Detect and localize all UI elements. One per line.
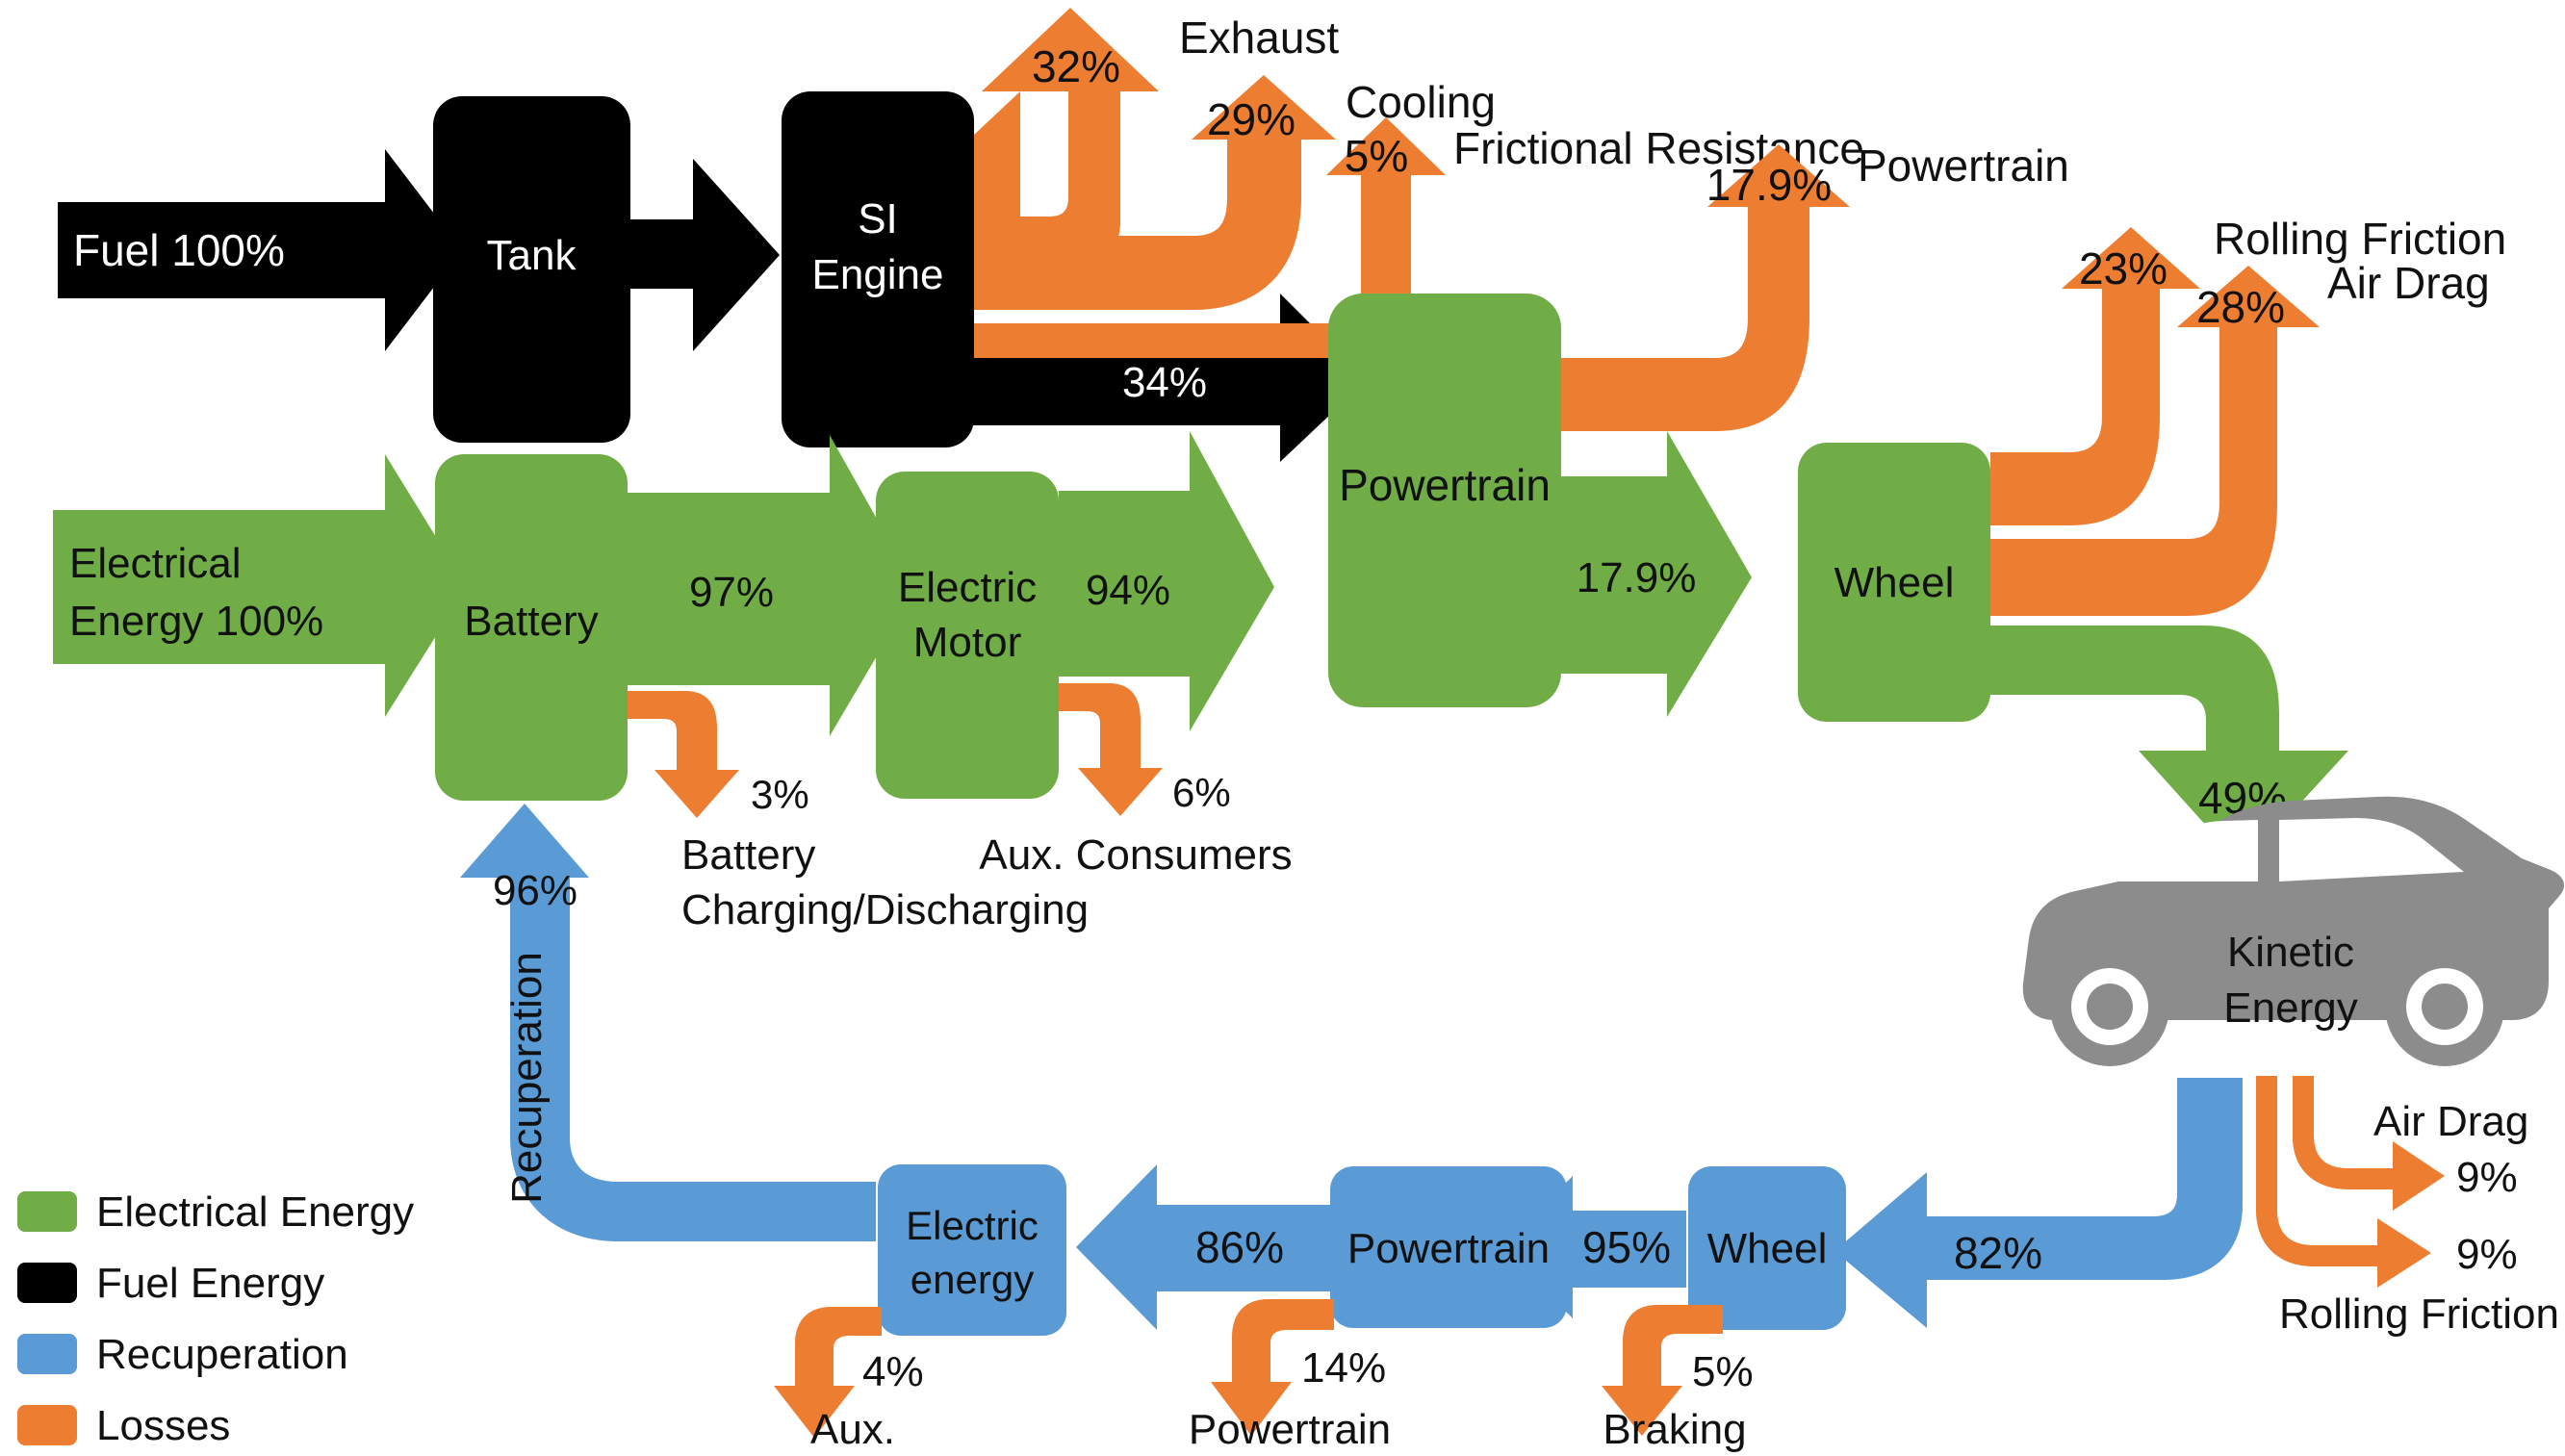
battery-loss-label-2: Charging/Discharging xyxy=(681,886,1089,933)
kinetic-to-wheel-label: 82% xyxy=(1954,1228,2042,1278)
rolling-friction-value: 23% xyxy=(2079,243,2167,294)
kinetic-energy-label-1: Kinetic xyxy=(2227,929,2354,976)
cooling-label: Cooling xyxy=(1346,77,1496,127)
powertrain-blue-loss-value: 14% xyxy=(1301,1344,1386,1392)
legend-label-fuel-energy: Fuel Energy xyxy=(96,1260,324,1307)
electrical-input-arrow: Electrical Energy 100% xyxy=(53,454,467,717)
diagram-canvas: Fuel 100% Tank SI Engine 34% 32% Exhaust xyxy=(0,0,2565,1456)
aux-consumers-label: Aux. Consumers xyxy=(979,831,1292,879)
electrical-input-label-2: Energy 100% xyxy=(69,598,323,645)
wheel-green-node: Wheel xyxy=(1798,443,1990,722)
motor-output-label: 94% xyxy=(1086,567,1170,614)
aux-blue-value: 4% xyxy=(862,1348,924,1395)
powertrain-to-wheel-arrow: 17.9% xyxy=(1559,431,1752,717)
wheel-to-powertrain-blue-label: 95% xyxy=(1582,1222,1671,1272)
cooling-value: 29% xyxy=(1207,94,1295,144)
kinetic-energy-label-2: Energy xyxy=(2223,984,2357,1032)
braking-label: Braking xyxy=(1603,1406,1746,1453)
recuperation-label: Recuperation xyxy=(503,952,551,1204)
battery-node: Battery xyxy=(435,454,628,801)
legend-swatch-fuel-energy xyxy=(17,1263,77,1303)
car-air-drag-value: 9% xyxy=(2456,1154,2518,1201)
electric-energy-blue-label-1: Electric xyxy=(906,1203,1039,1248)
exhaust-value: 32% xyxy=(1032,41,1120,91)
car-air-drag-label: Air Drag xyxy=(2373,1098,2528,1145)
legend-swatch-losses xyxy=(17,1405,77,1445)
powertrain-blue-label: Powertrain xyxy=(1347,1225,1550,1272)
tank-label: Tank xyxy=(487,232,577,279)
braking-value: 5% xyxy=(1692,1348,1754,1395)
wheel-blue-label: Wheel xyxy=(1707,1225,1828,1272)
powertrain-to-wheel-label: 17.9% xyxy=(1577,554,1697,601)
electric-energy-blue-node: Electric energy xyxy=(878,1164,1066,1336)
battery-loss-label-1: Battery xyxy=(681,831,815,879)
fuel-input-label: Fuel 100% xyxy=(73,225,285,275)
electric-motor-label-2: Motor xyxy=(913,619,1021,666)
recuperation-value: 96% xyxy=(493,867,577,914)
tank-to-engine-arrow xyxy=(630,159,780,351)
air-drag-label: Air Drag xyxy=(2327,258,2490,308)
legend-label-losses: Losses xyxy=(96,1402,230,1449)
powertrain-loss-arrow: 17.9% Powertrain xyxy=(1561,140,2069,431)
legend-label-electrical-energy: Electrical Energy xyxy=(96,1188,414,1236)
car-rolling-friction-value: 9% xyxy=(2456,1231,2518,1278)
electrical-input-label-1: Electrical xyxy=(69,540,242,587)
wheel-green-label: Wheel xyxy=(1834,559,1955,606)
aux-consumers-value: 6% xyxy=(1172,770,1231,815)
powertrain-green-label: Powertrain xyxy=(1339,460,1551,510)
electric-motor-label-1: Electric xyxy=(898,564,1037,611)
rolling-friction-label: Rolling Friction xyxy=(2214,214,2506,264)
frictional-resistance-value: 5% xyxy=(1345,131,1408,181)
car-rolling-friction-label: Rolling Friction xyxy=(2279,1290,2559,1338)
exhaust-label: Exhaust xyxy=(1179,13,1339,63)
si-engine-label-1: SI xyxy=(858,195,898,243)
car-icon: Kinetic Energy xyxy=(2023,797,2564,1066)
legend-swatch-electrical-energy xyxy=(17,1191,77,1232)
si-engine-node: SI Engine xyxy=(782,91,974,447)
powertrain-blue-loss-label: Powertrain xyxy=(1189,1406,1391,1453)
kinetic-to-wheel-blue-arrow: 82% xyxy=(1834,1078,2243,1328)
battery-label: Battery xyxy=(464,598,598,645)
powertrain-blue-node: Powertrain xyxy=(1330,1166,1567,1328)
tank-node: Tank xyxy=(433,96,630,443)
powertrain-loss-label: Powertrain xyxy=(1858,140,2069,191)
si-engine-label-2: Engine xyxy=(811,251,943,298)
car-air-drag-loss-arrow: Air Drag 9% xyxy=(2293,1076,2528,1211)
battery-output-label: 97% xyxy=(689,569,774,616)
air-drag-value: 28% xyxy=(2196,282,2285,332)
legend-swatch-recuperation xyxy=(17,1334,77,1374)
air-drag-loss-arrow: 28% Air Drag xyxy=(1990,258,2490,616)
fuel-input-arrow: Fuel 100% xyxy=(58,149,462,351)
aux-blue-label: Aux. xyxy=(810,1406,895,1453)
electric-energy-blue-label-2: energy xyxy=(911,1257,1034,1302)
energy-flow-diagram: Fuel 100% Tank SI Engine 34% 32% Exhaust xyxy=(0,0,2565,1456)
powertrain-green-node: Powertrain xyxy=(1328,294,1561,707)
engine-output-label: 34% xyxy=(1122,359,1207,406)
powertrain-to-electric-blue-label: 86% xyxy=(1195,1222,1284,1272)
electric-motor-node: Electric Motor xyxy=(876,472,1059,799)
legend-label-recuperation: Recuperation xyxy=(96,1331,348,1378)
battery-loss-value: 3% xyxy=(751,772,809,817)
powertrain-loss-value: 17.9% xyxy=(1706,160,1832,210)
engine-output-arrow: 34% xyxy=(972,294,1367,462)
legend: Electrical Energy Fuel Energy Recuperati… xyxy=(17,1188,414,1449)
